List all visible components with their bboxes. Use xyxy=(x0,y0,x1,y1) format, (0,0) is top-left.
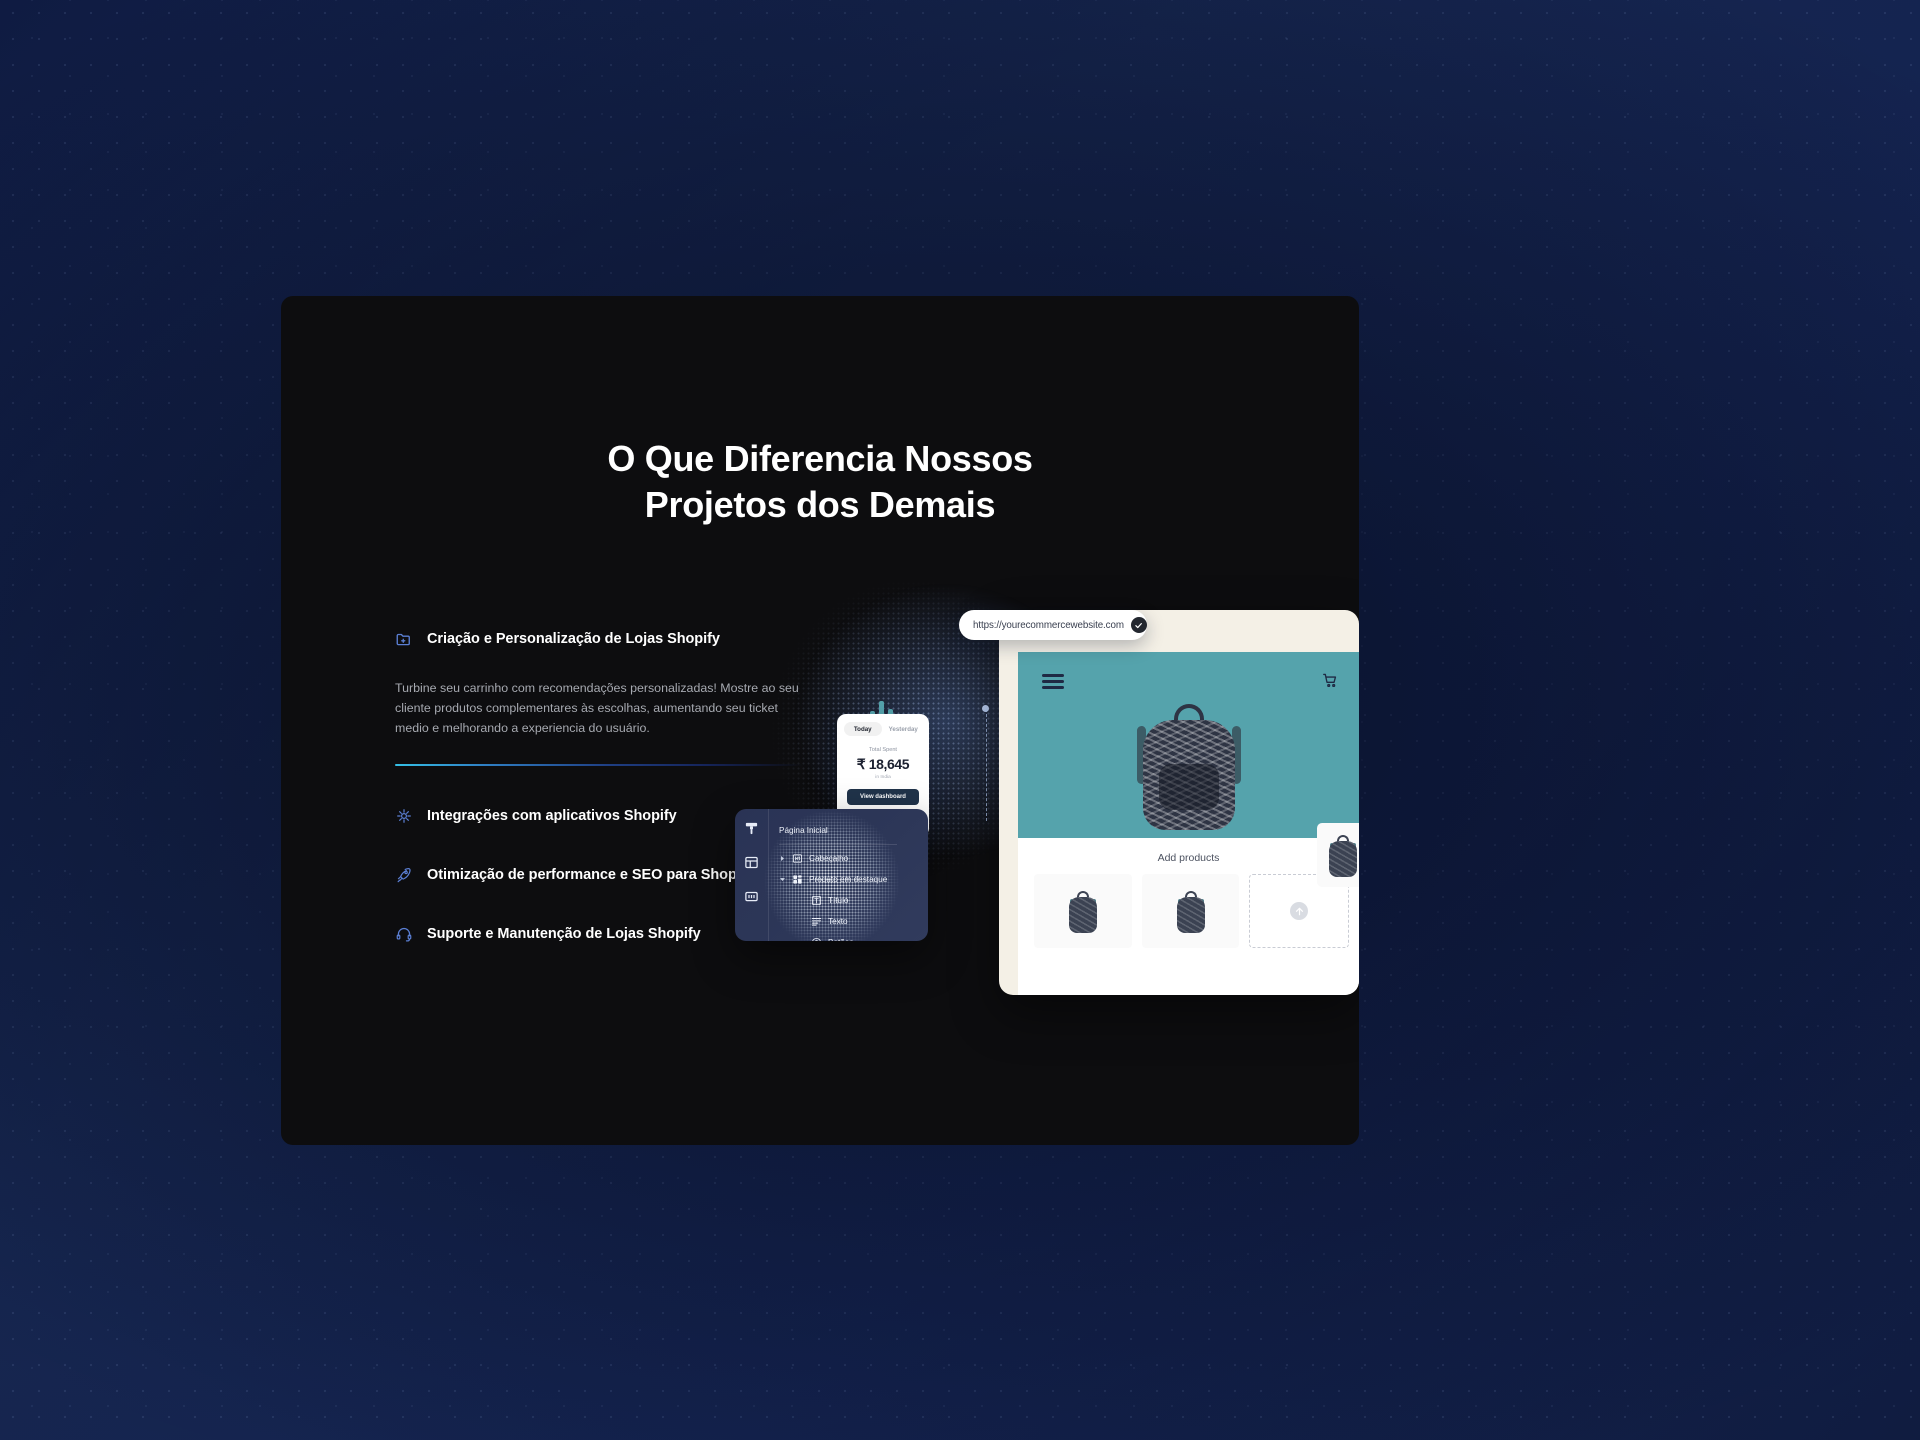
storefront-canvas: Add products xyxy=(1018,652,1359,995)
stats-metric-label: Total Spent xyxy=(844,747,922,753)
page-title: O Que Diferencia Nossos Projetos dos Dem… xyxy=(281,436,1359,528)
tree-item-titulo[interactable]: Título xyxy=(779,890,928,911)
tree-item-label: Texto xyxy=(828,917,848,926)
product-grid xyxy=(1034,874,1349,948)
button-circle-icon xyxy=(811,937,822,941)
hamburger-menu-icon[interactable] xyxy=(1042,674,1064,689)
tree-item-label: Produto em destaque xyxy=(809,875,887,884)
stats-metric-value: ₹ 18,645 xyxy=(844,756,922,773)
shopping-cart-icon[interactable] xyxy=(1322,672,1339,689)
text-lines-icon xyxy=(811,916,822,927)
arrow-up-icon xyxy=(1290,902,1308,920)
page-title-line-1: O Que Diferencia Nossos xyxy=(607,438,1032,479)
shopify-editor-mockup: Add products xyxy=(841,591,1359,1011)
add-products-title: Add products xyxy=(1018,852,1359,864)
tree-item-label: Botões xyxy=(828,938,854,941)
stats-metric-sub: in India xyxy=(844,775,922,780)
hero-backpack-image xyxy=(1135,698,1243,830)
product-card-backpack-navy[interactable] xyxy=(1034,874,1132,948)
tree-divider xyxy=(779,844,897,845)
tree-item-label: Cabeçalho xyxy=(809,854,848,863)
view-dashboard-button[interactable]: View dashboard xyxy=(847,789,919,805)
feature-item-label: Criação e Personalização de Lojas Shopif… xyxy=(427,631,720,647)
url-bar[interactable]: https://yourecommercewebsite.com xyxy=(959,610,1147,640)
product-card-backpack-grey[interactable] xyxy=(1142,874,1240,948)
tree-item-texto[interactable]: Texto xyxy=(779,911,928,932)
product-card-partial[interactable] xyxy=(1317,823,1359,887)
blocks-grid-icon xyxy=(792,874,803,885)
check-badge-icon xyxy=(1131,617,1147,633)
editor-layer-tree: Página Inicial Cabeçalho xyxy=(769,809,928,941)
headset-support-icon xyxy=(395,925,413,943)
editor-icon-rail xyxy=(735,809,769,941)
chevron-down-icon[interactable] xyxy=(779,876,786,883)
feature-item-label: Integrações com aplicativos Shopify xyxy=(427,808,677,824)
atom-integration-icon xyxy=(395,807,413,825)
layout-icon[interactable] xyxy=(744,855,759,870)
storefront-hero xyxy=(1018,652,1359,838)
settings-sliders-icon[interactable] xyxy=(744,889,759,904)
url-text: https://yourecommercewebsite.com xyxy=(973,620,1124,631)
tablet-device-frame: Add products xyxy=(999,610,1359,995)
stats-tabs: Today Yesterday xyxy=(844,722,922,736)
tree-item-produto-em-destaque[interactable]: Produto em destaque xyxy=(779,869,928,890)
dashed-connector-line xyxy=(986,709,987,821)
tree-item-label: Título xyxy=(828,896,848,905)
rocket-icon xyxy=(395,866,413,884)
text-title-icon xyxy=(811,895,822,906)
paintbrush-icon[interactable] xyxy=(744,821,759,836)
feature-section-card: O Que Diferencia Nossos Projetos dos Dem… xyxy=(281,296,1359,1145)
chevron-right-icon[interactable] xyxy=(779,855,786,862)
tree-item-botoes[interactable]: Botões xyxy=(779,932,928,941)
stats-tab-yesterday[interactable]: Yesterday xyxy=(885,722,923,736)
theme-editor-panel: Página Inicial Cabeçalho xyxy=(735,809,928,941)
tree-item-cabecalho[interactable]: Cabeçalho xyxy=(779,848,928,869)
heading-h1-icon xyxy=(792,853,803,864)
stats-tab-today[interactable]: Today xyxy=(844,722,882,736)
tree-item-pagina-inicial[interactable]: Página Inicial xyxy=(779,820,928,841)
page-title-line-2: Projetos dos Demais xyxy=(645,484,995,525)
tree-item-label: Página Inicial xyxy=(779,826,828,835)
feature-item-label: Suporte e Manutenção de Lojas Shopify xyxy=(427,926,701,942)
feature-item-label: Otimização de performance e SEO para Sho… xyxy=(427,867,754,883)
folder-plus-icon xyxy=(395,630,413,648)
